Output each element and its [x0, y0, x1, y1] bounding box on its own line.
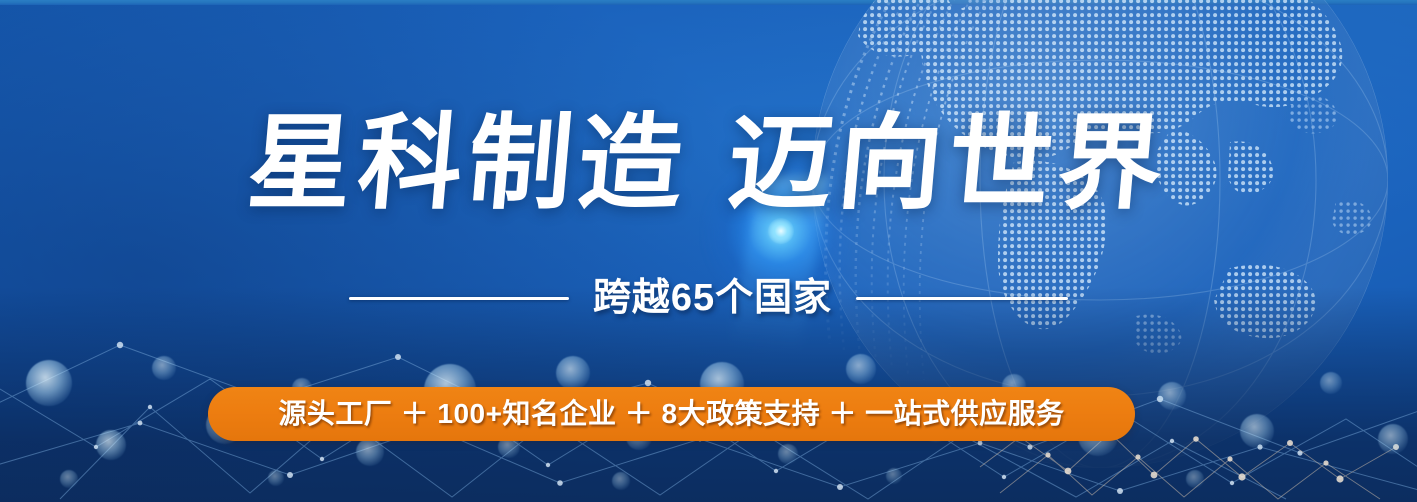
- features-pill-button[interactable]: 源头工厂 ＋ 100+知名企业 ＋ 8大政策支持 ＋ 一站式供应服务: [208, 387, 1135, 441]
- subtitle-row: 跨越65个国家: [0, 272, 1417, 324]
- promo-banner: 星科制造迈向世界 跨越65个国家 源头工厂 ＋ 100+知名企业 ＋ 8大政策支…: [0, 0, 1417, 502]
- subtitle-text: 跨越65个国家: [593, 274, 832, 322]
- divider-line-right: [856, 297, 1068, 300]
- title-part-right: 迈向世界: [723, 101, 1174, 224]
- features-pill-label: 源头工厂 ＋ 100+知名企业 ＋ 8大政策支持 ＋ 一站式供应服务: [278, 397, 1064, 431]
- divider-line-left: [349, 297, 569, 300]
- banner-content: 星科制造迈向世界 跨越65个国家 源头工厂 ＋ 100+知名企业 ＋ 8大政策支…: [0, 0, 1417, 502]
- page-title: 星科制造迈向世界: [0, 104, 1417, 222]
- title-part-left: 星科制造: [243, 101, 694, 224]
